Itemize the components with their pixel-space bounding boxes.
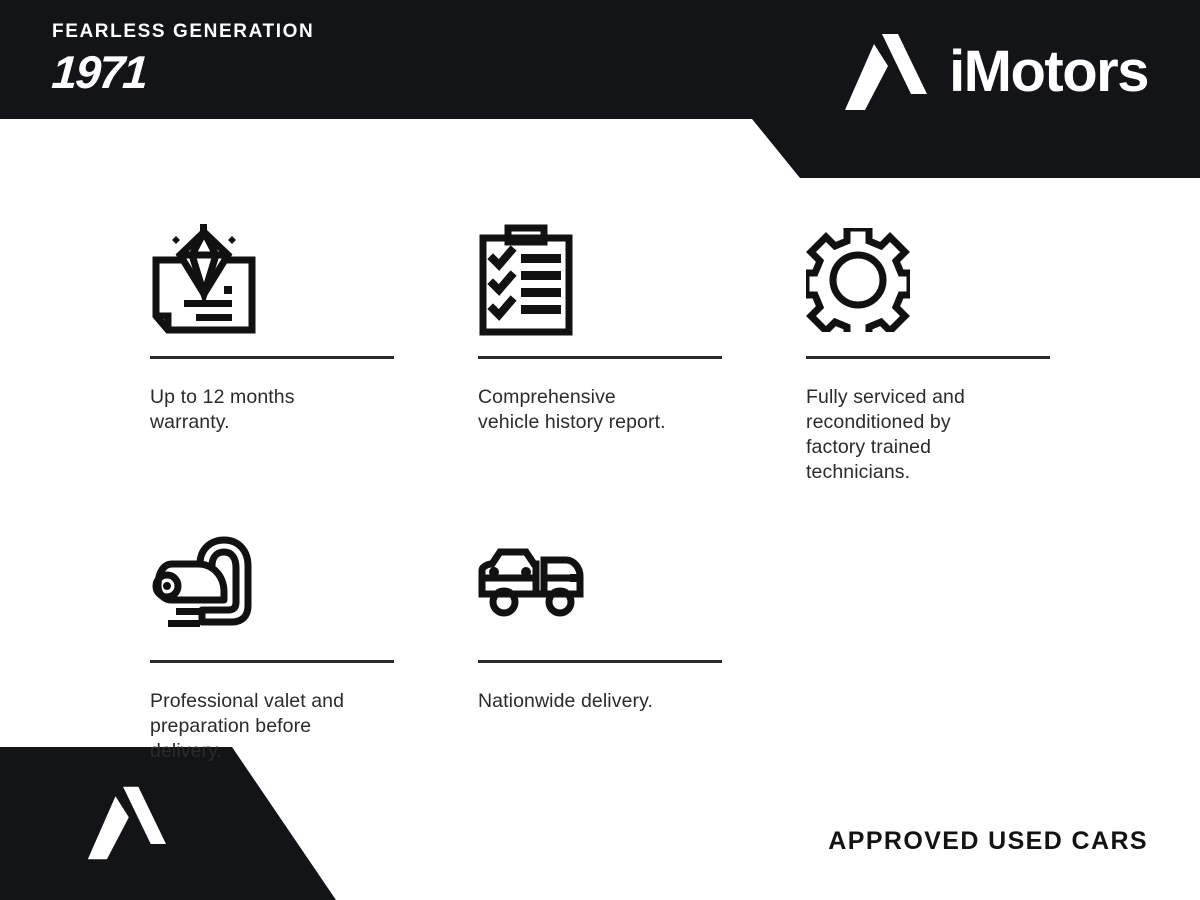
feature-label: Professional valet and preparation befor… <box>150 689 394 764</box>
approved-used-cars-tagline: APPROVED USED CARS <box>828 827 1148 856</box>
feature-divider <box>150 660 394 663</box>
feature-row: Up to 12 months warranty. <box>150 210 1060 485</box>
year-1971: 1971 <box>50 49 148 95</box>
feature-divider <box>806 356 1050 359</box>
feature-item-warranty: Up to 12 months warranty. <box>150 210 394 485</box>
brand-name: iMotors <box>949 43 1148 101</box>
feature-row: Professional valet and preparation befor… <box>150 514 1060 764</box>
fearless-generation-tagline: FEARLESS GENERATION <box>52 22 314 41</box>
certificate-diamond-icon <box>150 210 394 350</box>
footer-angled-shape <box>0 747 340 900</box>
footer-imotors-chevron-logo-icon <box>84 776 166 870</box>
vacuum-cleaner-icon <box>150 514 394 654</box>
feature-label: Nationwide delivery. <box>478 689 722 714</box>
gear-cog-icon <box>806 210 1050 350</box>
feature-grid: Up to 12 months warranty. <box>150 210 1060 764</box>
clipboard-checklist-icon <box>478 210 722 350</box>
brand-lockup: iMotors <box>841 34 1148 110</box>
year-block: 1971 <box>52 49 314 95</box>
feature-item-history-report: Comprehensive vehicle history report. <box>478 210 722 485</box>
feature-divider <box>150 356 394 359</box>
feature-divider <box>478 356 722 359</box>
feature-divider <box>478 660 722 663</box>
feature-item-serviced: Fully serviced and reconditioned by fact… <box>806 210 1050 485</box>
car-transporter-truck-icon <box>478 514 722 654</box>
feature-label: Up to 12 months warranty. <box>150 385 394 435</box>
feature-label: Comprehensive vehicle history report. <box>478 385 722 435</box>
feature-item-valet: Professional valet and preparation befor… <box>150 514 394 764</box>
imotors-chevron-logo-icon <box>841 34 927 110</box>
feature-item-delivery: Nationwide delivery. <box>478 514 722 764</box>
feature-label: Fully serviced and reconditioned by fact… <box>806 385 1050 485</box>
header-left-block: FEARLESS GENERATION 1971 <box>52 22 314 95</box>
promo-page: FEARLESS GENERATION 1971 iMotors <box>0 0 1200 900</box>
